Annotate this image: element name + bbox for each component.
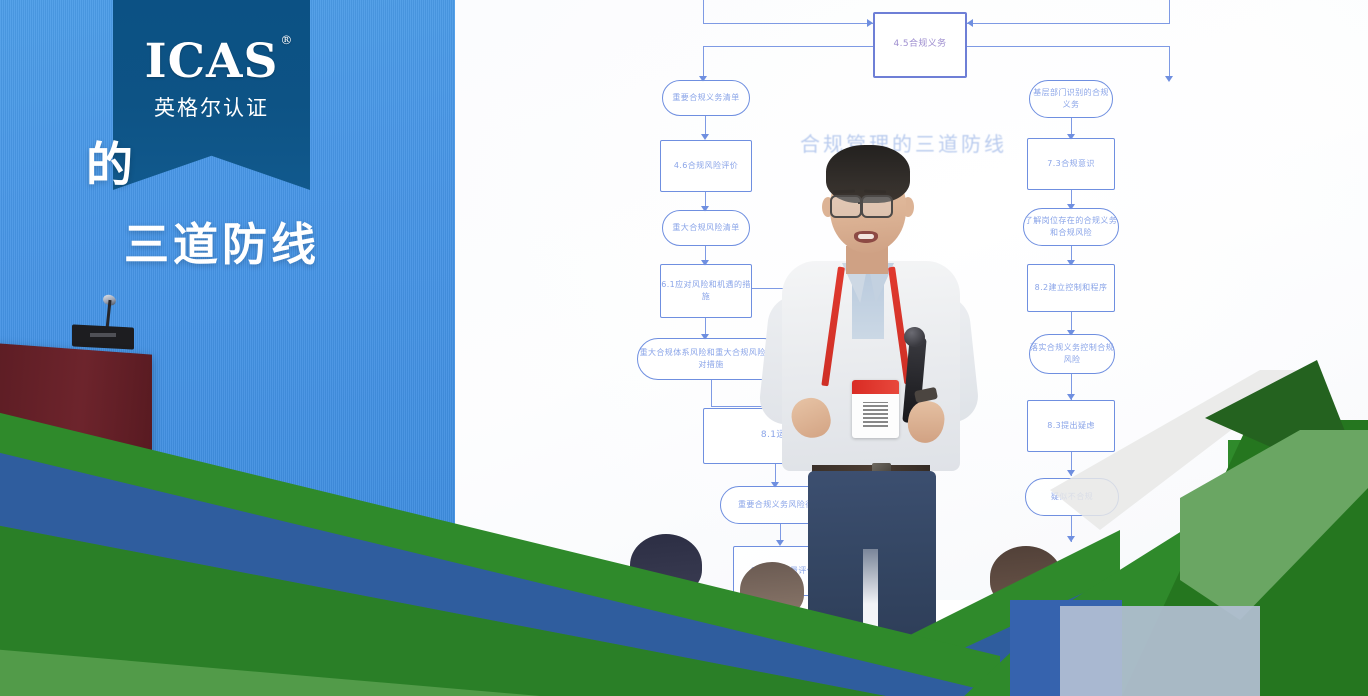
flow-line <box>1169 0 1170 24</box>
screenshot-stage: 4.5合规义务 合规管理的三道防线 重要合规义务清单 4.6合规风险评价 <box>0 0 1368 696</box>
wall-headline-line1: 的 <box>86 126 135 195</box>
glasses-bridge-icon <box>858 202 863 204</box>
presenter-teeth <box>858 234 874 239</box>
decor-block-grey <box>1060 606 1260 696</box>
flow-line <box>967 23 1169 24</box>
flow-line <box>703 23 873 24</box>
flow-node-right-4: 落实合规义务控制合规风险 <box>1029 334 1115 374</box>
flow-line <box>1169 46 1170 80</box>
flow-node-right-5: 8.3提出疑虑 <box>1027 400 1115 452</box>
registered-trademark-icon: ® <box>280 34 293 46</box>
flow-node-top: 4.5合规义务 <box>873 12 967 78</box>
flow-arrow <box>967 19 973 27</box>
qr-code-icon <box>863 402 888 427</box>
wall-headline-line2: 三道防线 <box>124 208 320 273</box>
glasses-lens-right-icon <box>861 195 893 218</box>
flow-node-right-3: 8.2建立控制和程序 <box>1027 264 1115 312</box>
flow-node-right-0: 基层部门识别的合规义务 <box>1029 80 1113 118</box>
presenter <box>760 145 1000 615</box>
attendee-badge <box>852 380 899 438</box>
flow-arrow <box>1165 76 1173 82</box>
podium-console <box>72 324 134 349</box>
flow-node-left-2: 重大合规风险清单 <box>662 210 750 246</box>
podium-console-plate <box>90 333 116 337</box>
flow-arrow <box>1067 536 1075 542</box>
badge-header-bar <box>852 380 899 394</box>
icas-logo: ICAS® <box>145 38 279 85</box>
flow-node-left-3: 6.1应对风险和机遇的措施 <box>660 264 752 318</box>
flow-line <box>703 0 704 24</box>
flow-line <box>711 380 712 406</box>
flow-arrow <box>867 19 873 27</box>
flow-node-right-2: 了解岗位存在的合规义务和合规风险 <box>1023 208 1119 246</box>
flow-line <box>967 46 1169 47</box>
glasses-lens-left-icon <box>830 195 862 218</box>
flow-node-right-1: 7.3合规意识 <box>1027 138 1115 190</box>
icas-logo-subtitle: 英格尔认证 <box>154 92 269 122</box>
flow-line <box>703 46 704 80</box>
flow-node-left-1: 4.6合规风险评价 <box>660 140 752 192</box>
flow-line <box>703 46 873 47</box>
flow-arrow <box>1067 470 1075 476</box>
icas-logo-text: ICAS <box>145 34 279 89</box>
flow-node-left-0: 重要合规义务清单 <box>662 80 750 116</box>
